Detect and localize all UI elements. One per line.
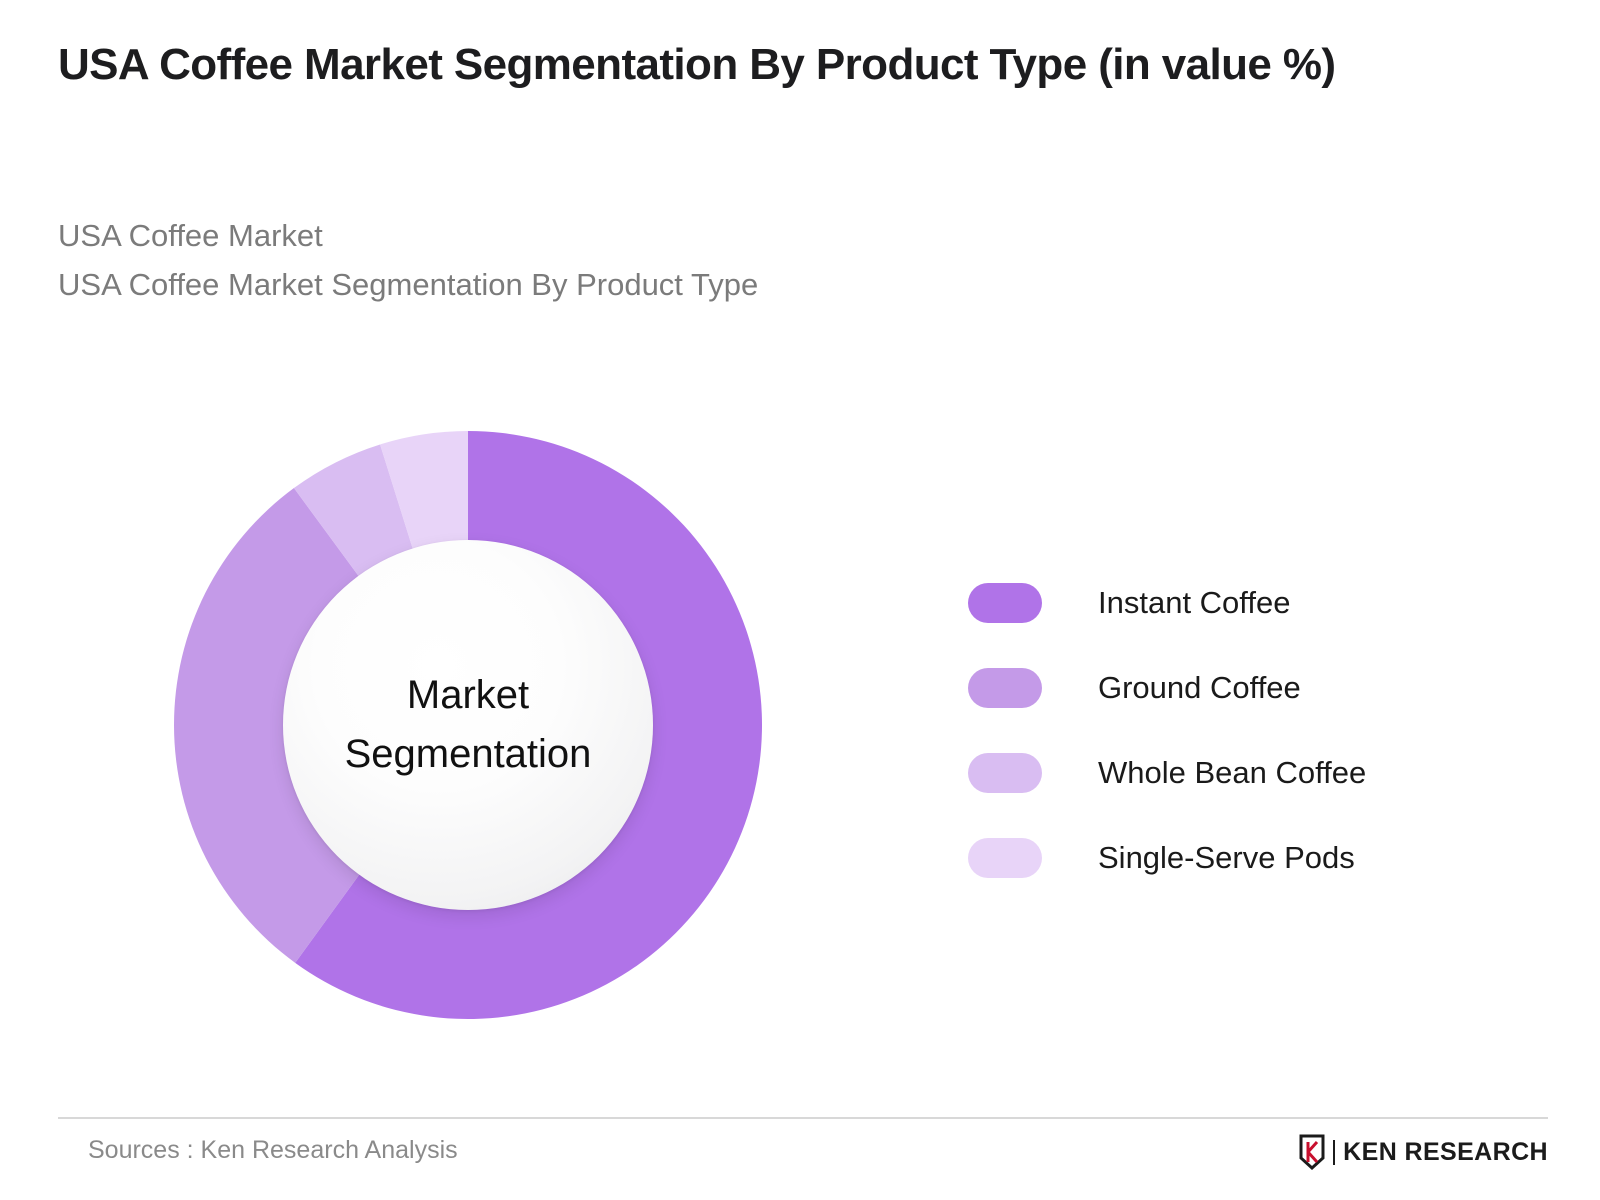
subtitle-line-2: USA Coffee Market Segmentation By Produc… [58,261,758,310]
chart-legend: Instant CoffeeGround CoffeeWhole Bean Co… [968,560,1528,900]
legend-item[interactable]: Whole Bean Coffee [968,730,1528,815]
legend-item-label: Single-Serve Pods [1098,840,1355,876]
footer-divider [58,1117,1548,1119]
slide-canvas: USA Coffee Market Segmentation By Produc… [0,0,1600,1200]
legend-swatch-icon [968,838,1042,878]
legend-swatch-icon [968,668,1042,708]
donut-center-hub: Market Segmentation [283,540,653,910]
donut-center-line-2: Segmentation [345,725,592,784]
legend-swatch-icon [968,753,1042,793]
legend-item-label: Ground Coffee [1098,670,1301,706]
legend-item-label: Instant Coffee [1098,585,1290,621]
legend-item[interactable]: Instant Coffee [968,560,1528,645]
legend-item[interactable]: Ground Coffee [968,645,1528,730]
legend-item-label: Whole Bean Coffee [1098,755,1366,791]
page-title: USA Coffee Market Segmentation By Produc… [58,40,1578,91]
donut-center-line-1: Market [407,666,529,725]
donut-stage: Market Segmentation [174,431,762,1019]
brand-name: KEN RESEARCH [1333,1140,1548,1165]
donut-chart: Market Segmentation [0,370,940,1070]
ken-research-shield-icon [1299,1134,1325,1170]
brand-logo: KEN RESEARCH [1299,1134,1548,1170]
legend-swatch-icon [968,583,1042,623]
legend-item[interactable]: Single-Serve Pods [968,815,1528,900]
footer-sources: Sources : Ken Research Analysis [88,1136,458,1165]
subtitle-line-1: USA Coffee Market [58,212,758,261]
subtitle-block: USA Coffee Market USA Coffee Market Segm… [58,212,758,309]
